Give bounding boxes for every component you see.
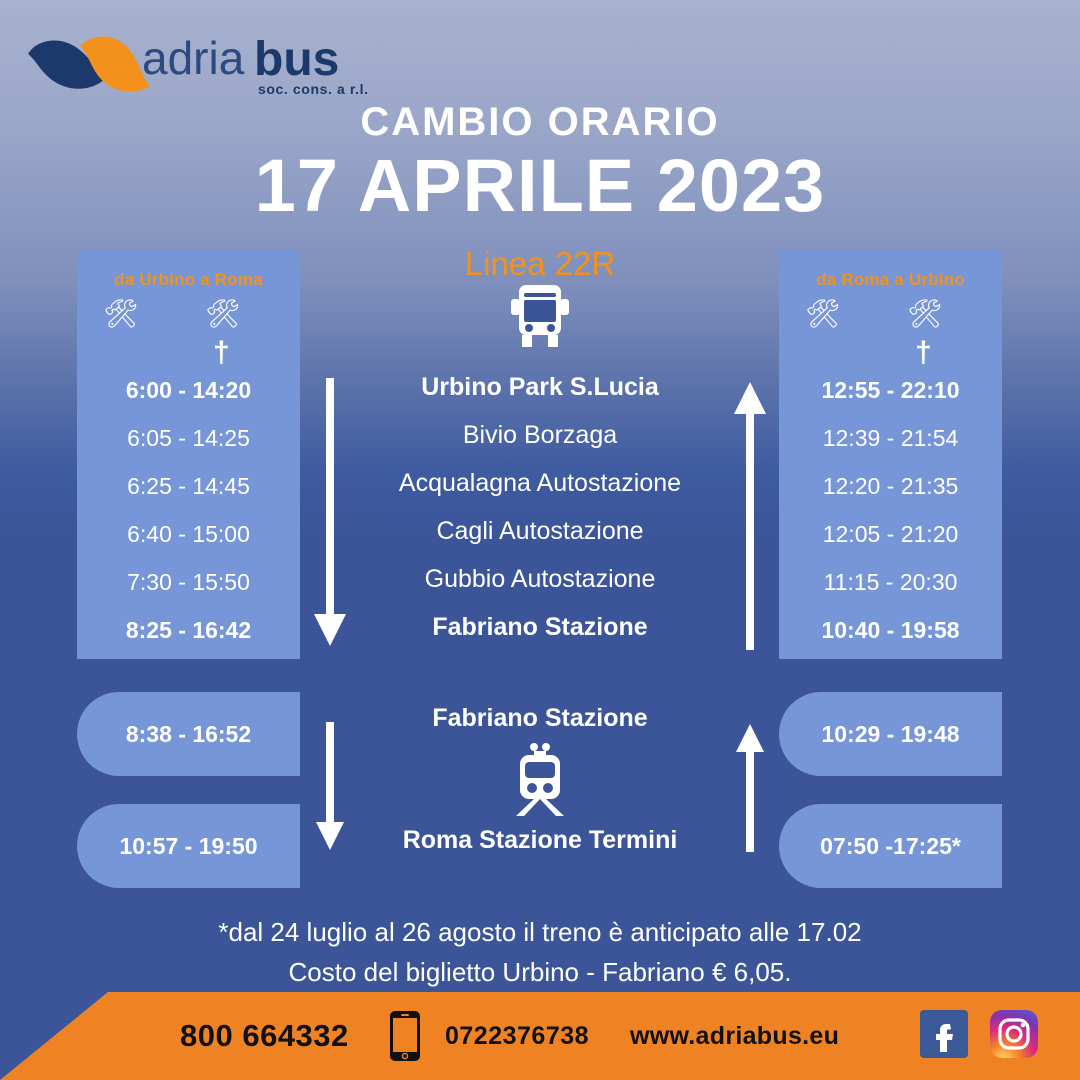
- toll-free-number[interactable]: 800 664332: [180, 992, 349, 1080]
- train-stop-name: Roma Stazione Termini: [340, 822, 740, 858]
- right-panel-icons: 🛠 🛠 †: [779, 290, 1002, 366]
- tools-icon: 🛠: [103, 300, 139, 328]
- cross-icon: †: [213, 338, 230, 368]
- tools-icon: 🛠: [907, 300, 943, 328]
- tools-icon: 🛠: [205, 300, 241, 328]
- train-stops-list: Fabriano Stazione Roma Stazione Termini: [340, 700, 740, 858]
- time-row: 10:40 - 19:58: [779, 606, 1002, 654]
- left-panel-icons: 🛠 🛠 †: [77, 290, 300, 366]
- panel-title-right: da Roma a Urbino: [779, 250, 1002, 290]
- time-row: 6:25 - 14:45: [77, 462, 300, 510]
- time-row: 12:55 - 22:10: [779, 366, 1002, 414]
- footnote-line: Costo del biglietto Urbino - Fabriano € …: [0, 952, 1080, 992]
- time-row: 11:15 - 20:30: [779, 558, 1002, 606]
- panel-roma-to-urbino: da Roma a Urbino 🛠 🛠 † 12:55 - 22:10 12:…: [779, 250, 1002, 659]
- poster: adria bus soc. cons. a r.l. CAMBIO ORARI…: [0, 0, 1080, 1080]
- time-row: 8:25 - 16:42: [77, 606, 300, 654]
- time-row: 12:05 - 21:20: [779, 510, 1002, 558]
- svg-text:adria: adria: [142, 32, 245, 84]
- instagram-icon[interactable]: [990, 1010, 1038, 1063]
- time-row: 6:05 - 14:25: [77, 414, 300, 462]
- panel-urbino-to-roma: da Urbino a Roma 🛠 🛠 † 6:00 - 14:20 6:05…: [77, 250, 300, 659]
- header-date: 17 APRILE 2023: [0, 143, 1080, 228]
- stop-name: Gubbio Autostazione: [340, 555, 740, 603]
- stop-name: Urbino Park S.Lucia: [340, 363, 740, 411]
- train-icon: [340, 736, 740, 822]
- cross-icon: †: [915, 338, 932, 368]
- adriabus-logo: adria bus soc. cons. a r.l.: [22, 22, 372, 102]
- time-row: 6:40 - 15:00: [77, 510, 300, 558]
- time-row: 12:39 - 21:54: [779, 414, 1002, 462]
- bus-icon: [340, 285, 740, 363]
- header-kicker: CAMBIO ORARIO: [0, 100, 1080, 145]
- footnote-line: *dal 24 luglio al 26 agosto il treno è a…: [0, 912, 1080, 952]
- train-stop-name: Fabriano Stazione: [340, 700, 740, 736]
- stop-name: Cagli Autostazione: [340, 507, 740, 555]
- stop-name: Acqualagna Autostazione: [340, 459, 740, 507]
- right-times-list: 12:55 - 22:10 12:39 - 21:54 12:20 - 21:3…: [779, 366, 1002, 654]
- time-row: 6:00 - 14:20: [77, 366, 300, 414]
- time-row: 7:30 - 15:50: [77, 558, 300, 606]
- bus-stops-list: Urbino Park S.Lucia Bivio Borzaga Acqual…: [340, 285, 740, 651]
- website-link[interactable]: www.adriabus.eu: [630, 992, 839, 1080]
- mobile-phone-icon: [390, 1011, 420, 1066]
- stop-name: Bivio Borzaga: [340, 411, 740, 459]
- stop-name: Fabriano Stazione: [340, 603, 740, 651]
- phone-number[interactable]: 0722376738: [445, 992, 589, 1080]
- train-time-right-1: 10:29 - 19:48: [779, 692, 1002, 776]
- facebook-icon[interactable]: [920, 1010, 968, 1063]
- train-time-left-2: 10:57 - 19:50: [77, 804, 300, 888]
- time-row: 12:20 - 21:35: [779, 462, 1002, 510]
- train-time-right-2: 07:50 -17:25*: [779, 804, 1002, 888]
- train-time-left-1: 8:38 - 16:52: [77, 692, 300, 776]
- left-times-list: 6:00 - 14:20 6:05 - 14:25 6:25 - 14:45 6…: [77, 366, 300, 654]
- social-links: [920, 1010, 1038, 1063]
- svg-text:soc. cons. a r.l.: soc. cons. a r.l.: [258, 81, 369, 97]
- panel-title-left: da Urbino a Roma: [77, 250, 300, 290]
- tools-icon: 🛠: [805, 300, 841, 328]
- svg-text:bus: bus: [254, 33, 339, 86]
- footnotes: *dal 24 luglio al 26 agosto il treno è a…: [0, 912, 1080, 992]
